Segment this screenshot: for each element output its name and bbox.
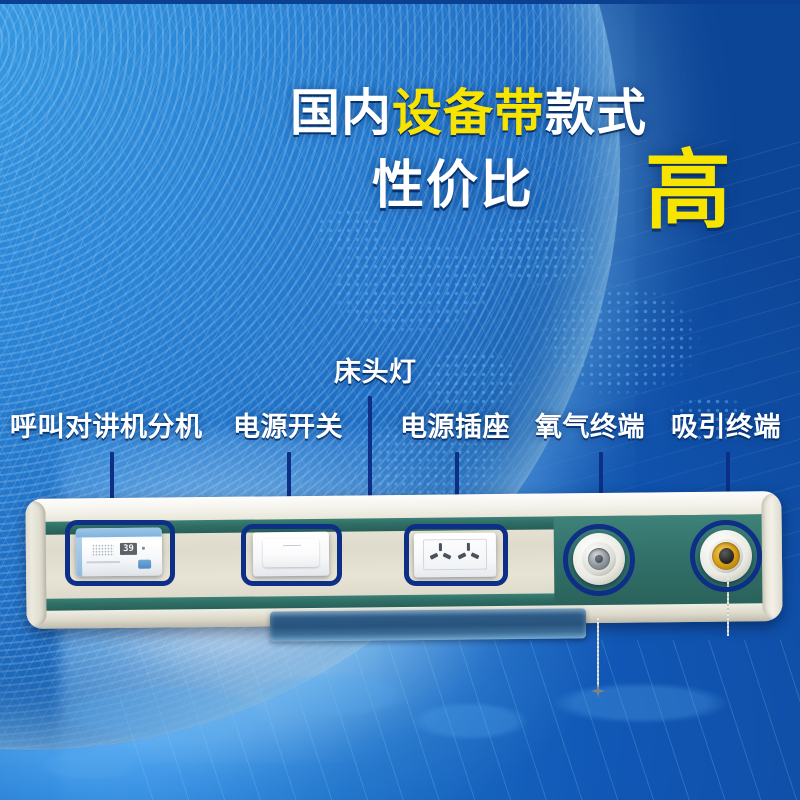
highlight-suction — [690, 520, 762, 592]
world-map-watermark — [0, 655, 800, 800]
callout-label-bed-lamp: 床头灯 — [334, 359, 417, 386]
callout-label-oxygen: 氧气终端 — [535, 414, 645, 441]
highlight-intercom — [65, 520, 175, 586]
callout-label-intercom: 呼叫对讲机分机 — [10, 414, 203, 441]
headline-line-2: 性价比 — [372, 160, 534, 212]
callout-label-power-socket: 电源插座 — [400, 414, 510, 441]
highlight-power-socket — [404, 524, 508, 586]
highlight-power-switch — [241, 524, 342, 586]
callout-label-suction: 吸引终端 — [671, 414, 781, 441]
highlight-oxygen — [563, 524, 635, 596]
headline-white-a: 国内 — [290, 85, 392, 141]
headline-highlight-char: 高 — [645, 148, 731, 234]
headline-line-1: 国内设备带款式 — [290, 88, 647, 138]
panel-end-cap-left — [25, 501, 46, 627]
callout-label-power-switch: 电源开关 — [233, 414, 343, 441]
headline-yellow: 设备带 — [392, 85, 545, 141]
pull-cord-oxygen[interactable] — [597, 618, 599, 688]
bed-lamp-diffuser[interactable] — [270, 608, 586, 641]
promo-banner: 国内设备带款式 性价比 高 呼叫对讲机分机 电源开关 床头灯 电源插座 氧气终端… — [0, 0, 800, 800]
headline-block: 国内设备带款式 性价比 高 — [290, 88, 760, 238]
panel-end-cap-right — [761, 493, 782, 619]
top-edge-line — [0, 0, 800, 4]
headline-white-b: 款式 — [545, 85, 647, 141]
